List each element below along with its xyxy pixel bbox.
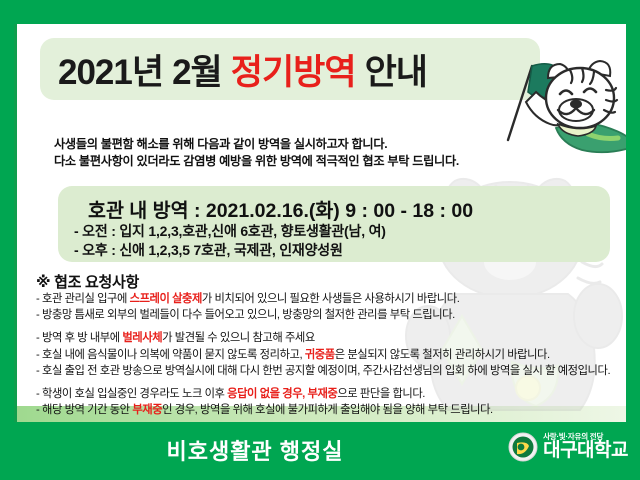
list-spacer xyxy=(36,324,624,331)
request-item: - 해당 방역 기간 동안 부재중인 경우, 방역을 위해 호실에 불가피하게 … xyxy=(36,403,624,418)
request-item-highlight: 부재중 xyxy=(132,404,162,416)
request-item-text: - 호실 출입 전 호관 방송으로 방역실시에 대해 다시 한번 공지할 예정이… xyxy=(36,365,610,377)
university-logo: 사랑·빛·자유의 전당 대구대학교 xyxy=(508,432,628,462)
request-item-text-tail: 가 발견될 수 있으니 참고해 주세요 xyxy=(162,332,315,344)
content-card: 2021년2월정기방역안내 xyxy=(14,24,626,422)
request-item-highlight: 귀중품 xyxy=(305,349,335,361)
requests-heading: ※ 협조 요청사항 xyxy=(36,271,139,292)
university-emblem-icon xyxy=(508,432,538,462)
title-highlight: 정기방역 xyxy=(231,53,356,92)
request-item: - 호관 관리실 입구에 스프레이 살충제가 비치되어 있으니 필요한 사생들은… xyxy=(36,292,624,307)
request-item: - 방역 후 방 내부에 벌레사체가 발견될 수 있으니 참고해 주세요 xyxy=(36,331,624,346)
schedule-afternoon: - 오후 : 신애 1,2,3,5 7호관, 국제관, 인재양성원 xyxy=(74,241,386,260)
title-month: 2 xyxy=(172,53,190,92)
request-item-text-tail: 은 분실되지 않도록 철저히 관리하시기 바랍니다. xyxy=(335,349,550,361)
intro-line-2: 다소 불편사항이 있더라도 감염병 예방을 위한 방역에 적극적인 협조 부탁 … xyxy=(54,153,614,170)
request-item-text: - 해당 방역 기간 동안 xyxy=(36,404,132,416)
page-title: 2021년2월정기방역안내 xyxy=(58,44,528,95)
logo-text-block: 사랑·빛·자유의 전당 대구대학교 xyxy=(543,433,628,462)
request-item-text: - 호관 관리실 입구에 xyxy=(36,293,130,305)
intro-line-1: 사생들의 불편함 해소를 위해 다음과 같이 방역을 실시하고자 합니다. xyxy=(54,136,614,153)
title-year-suffix: 년 xyxy=(132,53,163,92)
title-month-suffix: 월 xyxy=(191,53,222,92)
request-item-text-tail: 으로 판단을 합니다. xyxy=(337,388,425,400)
request-item: - 호실 출입 전 호관 방송으로 방역실시에 대해 다시 한번 공지할 예정이… xyxy=(36,364,624,379)
title-tail: 안내 xyxy=(365,53,427,92)
requests-list: - 호관 관리실 입구에 스프레이 살충제가 비치되어 있으니 필요한 사생들은… xyxy=(36,292,624,419)
schedule-heading: 호관 내 방역 : 2021.02.16.(화) 9 : 00 - 18 : 0… xyxy=(88,194,473,223)
request-item-highlight: 스프레이 살충제 xyxy=(130,293,202,305)
list-spacer xyxy=(36,380,624,387)
title-year: 2021 xyxy=(58,53,132,92)
poster-root: 2021년2월정기방역안내 xyxy=(0,0,640,480)
request-item-text: - 방역 후 방 내부에 xyxy=(36,332,122,344)
request-item-highlight: 벌레사체 xyxy=(122,332,162,344)
request-item-text-tail: 인 경우, 방역을 위해 호실에 불가피하게 출입해야 됨을 양해 부탁 드립니… xyxy=(162,404,493,416)
request-item: - 학생이 호실 입실중인 경우라도 노크 이후 응답이 없을 경우, 부재중으… xyxy=(36,387,624,402)
request-item-highlight: 응답이 없을 경우, 부재중 xyxy=(227,388,337,400)
request-item-text-tail: 가 비치되어 있으니 필요한 사생들은 사용하시기 바랍니다. xyxy=(202,293,459,305)
request-item-text: - 학생이 호실 입실중인 경우라도 노크 이후 xyxy=(36,388,227,400)
schedule-detail-lines: - 오전 : 입지 1,2,3,호관,신애 6호관, 향토생활관(남, 여) -… xyxy=(74,222,386,260)
schedule-morning: - 오전 : 입지 1,2,3,호관,신애 6호관, 향토생활관(남, 여) xyxy=(74,222,386,241)
intro-paragraph: 사생들의 불편함 해소를 위해 다음과 같이 방역을 실시하고자 합니다. 다소… xyxy=(54,136,614,170)
logo-university-name: 대구대학교 xyxy=(543,441,628,461)
request-item-text: - 방충망 틈새로 외부의 벌레들이 다수 들어오고 있으니, 방충망의 철저한… xyxy=(36,309,455,321)
request-item: - 방충망 틈새로 외부의 벌레들이 다수 들어오고 있으니, 방충망의 철저한… xyxy=(36,308,624,323)
request-item-text: - 호실 내에 음식물이나 의복에 약품이 묻지 않도록 정리하고, xyxy=(36,349,305,361)
request-item: - 호실 내에 음식물이나 의복에 약품이 묻지 않도록 정리하고, 귀중품은 … xyxy=(36,348,624,363)
